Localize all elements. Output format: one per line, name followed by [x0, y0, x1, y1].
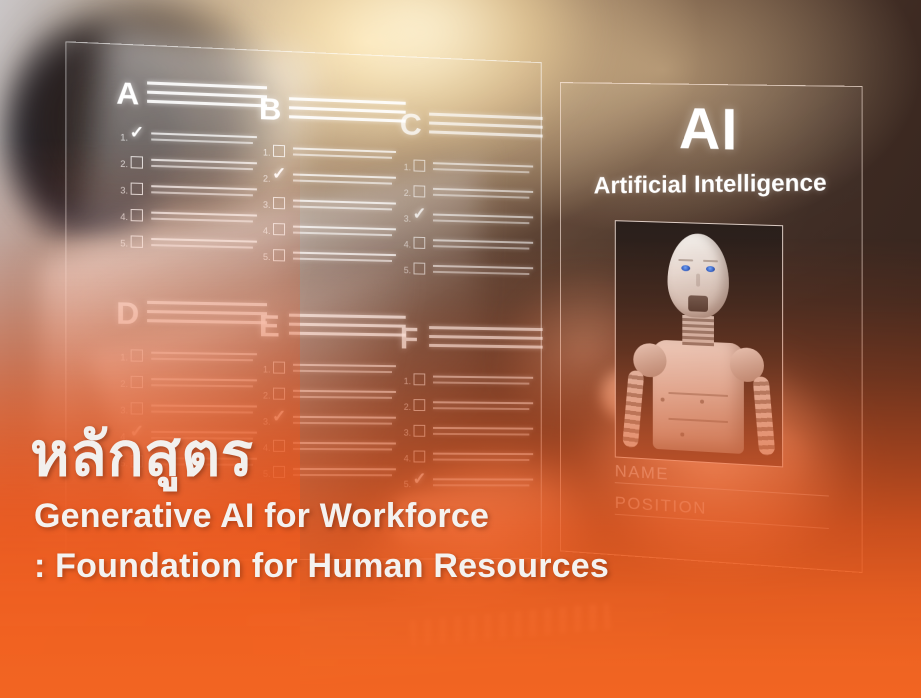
checklist-item[interactable]: 2.: [404, 396, 549, 423]
checklist-item-text-rule: [293, 206, 392, 210]
checklist-item-text-rule: [293, 200, 396, 205]
checklist-item-number: 3.: [404, 214, 411, 224]
checklist-item-text-rule: [433, 245, 529, 249]
checklist-column-header-rules: [289, 314, 406, 343]
checkbox-icon[interactable]: [273, 362, 285, 374]
checklist-item-number: 1.: [120, 352, 128, 362]
checklist-item-text-rule: [151, 132, 257, 137]
checklist-item-text-rule: [433, 376, 533, 379]
checklist-item-text-rule: [151, 138, 253, 143]
checklist-item[interactable]: 5.: [120, 232, 273, 262]
checklist-item-text-rule: [433, 168, 529, 173]
checklist-item-number: 1.: [263, 364, 271, 374]
checklist-item-text-rule: [151, 159, 257, 164]
robot-eye-right: [706, 266, 715, 272]
robot-eye-left: [681, 265, 690, 271]
checklist-item-text-rule: [151, 185, 257, 190]
course-title-line-1: Generative AI for Workforce: [34, 495, 730, 539]
checklist-column-b: B1.2.✓3.4.5.: [259, 93, 281, 125]
course-banner: A1.✓2.3.4.5.B1.2.✓3.4.5.C1.2.3.✓4.5.D1.2…: [0, 0, 921, 698]
checkbox-icon[interactable]: [131, 209, 143, 222]
checklist-item-text-rule: [293, 252, 396, 256]
checklist-item-text-rule: [433, 401, 533, 404]
checklist-item-text-rule: [433, 214, 533, 218]
checkbox-icon[interactable]: [414, 399, 426, 411]
checklist-item[interactable]: 5.: [263, 246, 412, 275]
checklist-item-number: 4.: [263, 226, 271, 236]
checklist-item-number: 2.: [404, 402, 411, 412]
checklist-item-number: 3.: [120, 405, 128, 415]
checklist-items: 1.2.✓3.4.5.: [263, 141, 412, 275]
checklist-item-number: 3.: [263, 200, 271, 210]
checklist-item-text-rule: [293, 173, 396, 178]
checkbox-icon[interactable]: [273, 249, 285, 261]
checklist-item-text-rule: [151, 238, 257, 242]
checklist-column-a: A1.✓2.3.4.5.: [116, 77, 139, 109]
checklist-column-letter: D: [116, 297, 139, 329]
checkbox-icon[interactable]: [131, 235, 143, 248]
checklist-column-f: F1.2.3.4.5.✓: [400, 323, 419, 354]
checklist-item-number: 1.: [404, 376, 411, 386]
checklist-column-header-rules: [147, 301, 267, 330]
checklist-item-text-rule: [293, 147, 396, 152]
checkbox-icon[interactable]: [273, 223, 285, 235]
checklist-item-number: 3.: [120, 185, 128, 195]
checklist-item-text-rule: [293, 364, 396, 367]
ai-panel-title: AI: [561, 99, 862, 163]
checklist-item-number: 2.: [120, 379, 128, 389]
checklist-item[interactable]: 4.: [263, 220, 412, 250]
checklist-column-letter: F: [400, 323, 419, 354]
checklist-item-text-rule: [433, 265, 533, 269]
checkbox-icon[interactable]: [131, 376, 143, 388]
checkbox-icon[interactable]: [273, 388, 285, 400]
checklist-item-text-rule: [293, 179, 392, 184]
course-title-line-2: : Foundation for Human Resources: [34, 545, 730, 589]
checklist-item-text-rule: [151, 411, 253, 414]
checklist-item-text-rule: [151, 244, 253, 248]
checkbox-icon[interactable]: [273, 197, 285, 209]
checklist-item-number: 1.: [120, 132, 128, 142]
check-icon[interactable]: ✓: [272, 165, 286, 183]
checklist-item-text-rule: [433, 219, 529, 223]
checklist-item-text-rule: [151, 212, 257, 217]
checkbox-icon[interactable]: [414, 160, 426, 172]
checklist-item-text-rule: [433, 381, 529, 384]
checklist-item-number: 5.: [120, 238, 128, 248]
checklist-item-text-rule: [293, 232, 392, 236]
checklist-item-text-rule: [151, 191, 253, 196]
checklist-item-text-rule: [433, 162, 533, 167]
robot-mouth-panel: [688, 295, 708, 312]
checklist-item-number: 2.: [263, 174, 271, 184]
checklist-item-number: 2.: [404, 188, 411, 198]
checklist-item-text-rule: [293, 258, 392, 262]
checklist-column-header-rules: [429, 326, 543, 354]
headline-block: หลักสูตร Generative AI for Workforce : F…: [30, 424, 730, 588]
checklist-column-header-rules: [147, 81, 267, 113]
checklist-item-number: 5.: [404, 265, 411, 275]
checklist-item-text-rule: [151, 384, 253, 387]
checklist-item-number: 4.: [404, 239, 411, 249]
checklist-item-text-rule: [151, 165, 253, 170]
checklist-item-number: 2.: [263, 390, 271, 400]
checklist-item[interactable]: 4.: [120, 206, 273, 236]
checklist-item-number: 4.: [120, 212, 128, 222]
checklist-item[interactable]: 1.: [263, 358, 412, 386]
checkbox-icon[interactable]: [131, 349, 143, 361]
checklist-item-number: 5.: [263, 252, 271, 262]
checkbox-icon[interactable]: [131, 183, 143, 196]
checklist-item[interactable]: 2.: [120, 373, 273, 401]
checklist-item-text-rule: [151, 218, 253, 222]
checklist-column-header-rules: [289, 97, 406, 128]
checklist-item-text-rule: [151, 358, 253, 361]
checklist-column-e: E1.2.3.✓4.5.: [259, 310, 280, 341]
checklist-item[interactable]: 3.✓: [404, 208, 549, 238]
checkbox-icon[interactable]: [414, 373, 426, 385]
checklist-item-text-rule: [433, 188, 533, 193]
checklist-item-text-rule: [151, 404, 257, 407]
checkbox-icon[interactable]: [131, 156, 143, 169]
checklist-item[interactable]: 3.: [263, 194, 412, 224]
checkbox-icon[interactable]: [131, 402, 143, 414]
checklist-items: 1.✓2.3.4.5.: [120, 126, 273, 262]
check-icon[interactable]: ✓: [272, 408, 286, 425]
checklist-column-c: C1.2.3.✓4.5.: [400, 109, 422, 141]
checklist-column-letter: B: [259, 93, 281, 125]
checklist-item-text-rule: [293, 416, 396, 418]
checklist-item-text-rule: [293, 370, 392, 373]
checklist-item-text-rule: [433, 407, 529, 409]
check-icon[interactable]: ✓: [130, 123, 145, 141]
checklist-column-letter: E: [259, 310, 280, 341]
checklist-item-number: 2.: [120, 159, 128, 169]
checklist-item[interactable]: 5.: [404, 259, 549, 288]
checklist-item-text-rule: [433, 239, 533, 243]
course-title-thai: หลักสูตร: [30, 424, 730, 485]
checkbox-icon[interactable]: [273, 145, 285, 157]
checklist-item-text-rule: [151, 378, 257, 381]
ai-panel-subtitle: Artificial Intelligence: [561, 169, 862, 201]
checklist-item-text-rule: [293, 396, 392, 399]
checkbox-icon[interactable]: [414, 262, 426, 274]
checklist-item-text-rule: [293, 226, 396, 230]
robot-neck: [682, 315, 714, 346]
checkbox-icon[interactable]: [414, 185, 426, 197]
checklist-column-letter: C: [400, 109, 422, 141]
checklist-item-text-rule: [293, 390, 396, 393]
checklist-column-header-rules: [429, 113, 543, 144]
checklist-item-text-rule: [293, 153, 392, 158]
check-icon[interactable]: ✓: [413, 205, 427, 222]
checklist-column-d: D1.2.3.4.✓5.: [116, 297, 139, 329]
checklist-item-text-rule: [433, 194, 529, 199]
checklist-item[interactable]: 1.: [404, 370, 549, 397]
checklist-item-text-rule: [151, 352, 257, 355]
checklist-item-number: 1.: [263, 147, 271, 157]
checklist-column-letter: A: [116, 77, 139, 109]
checklist-item-number: 1.: [404, 162, 411, 172]
checkbox-icon[interactable]: [414, 237, 426, 249]
checklist-item[interactable]: 1.: [120, 346, 273, 374]
checklist-items: 1.2.3.✓4.5.: [404, 156, 549, 288]
checklist-item[interactable]: 4.: [404, 234, 549, 263]
checklist-item-text-rule: [433, 271, 529, 275]
